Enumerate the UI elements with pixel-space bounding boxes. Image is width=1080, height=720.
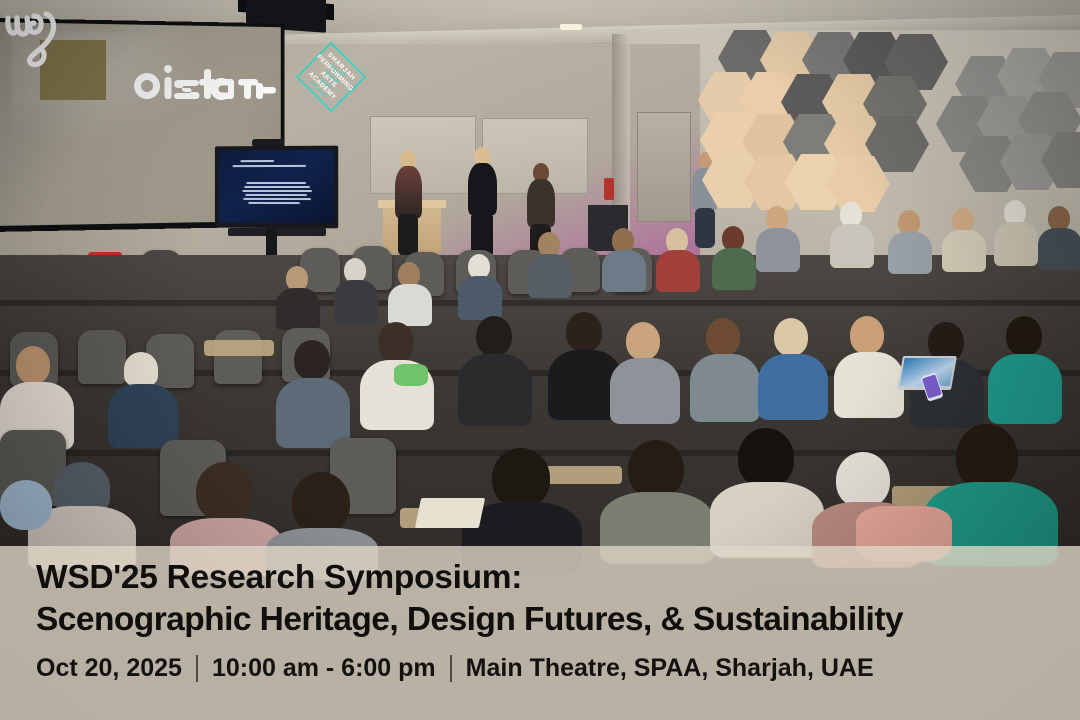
attendee-body	[610, 358, 680, 424]
whiteboard	[370, 116, 476, 194]
event-date: Oct 20, 2025	[36, 654, 182, 683]
presentation-monitor	[215, 146, 338, 229]
attendee-head	[0, 480, 52, 530]
attendee-body	[458, 354, 532, 426]
attendee-body	[988, 354, 1062, 424]
attendee-head	[836, 452, 890, 508]
event-poster: SHARJAH PERFORMING ARTS ACADEMY أكاديمية…	[0, 0, 1080, 720]
monitor-cart-shelf	[228, 228, 326, 236]
attendee-body	[756, 228, 800, 272]
attendee-body	[388, 284, 432, 326]
event-venue: Main Theatre, SPAA, Sharjah, UAE	[466, 654, 874, 683]
meta-separator	[450, 655, 452, 682]
presenter-body	[395, 166, 422, 218]
attendee-body	[888, 232, 932, 274]
attendee-head	[626, 322, 660, 360]
attendee-head	[16, 346, 50, 384]
attendee-body	[1038, 228, 1080, 270]
attendee-head	[294, 340, 330, 380]
attendee-head	[706, 318, 740, 356]
attendee-body	[830, 224, 874, 268]
event-title: WSD'25 Research Symposium: Scenographic …	[36, 557, 1066, 641]
attendee-body	[276, 288, 320, 330]
presenter-legs	[398, 214, 418, 256]
attendee-head	[774, 318, 808, 356]
attendee-legs	[695, 208, 715, 248]
attendee-headscarf	[394, 364, 428, 386]
attendee-body	[834, 352, 904, 418]
chair	[78, 330, 126, 384]
attendee-cap	[54, 462, 110, 512]
attendee-body	[276, 378, 350, 448]
attendee-head	[738, 428, 794, 488]
attendee-head	[956, 424, 1018, 490]
chair	[214, 330, 262, 384]
exit-door	[637, 112, 691, 222]
attendee-head	[628, 440, 684, 498]
fire-extinguisher	[604, 178, 614, 200]
ceiling-light	[560, 24, 582, 30]
monitor-screen	[219, 150, 334, 224]
attendee-head	[566, 312, 602, 352]
event-time: 10:00 am - 6:00 pm	[212, 654, 436, 683]
attendee-head	[1006, 316, 1042, 356]
attendee-body	[458, 276, 502, 320]
tablet-desk	[540, 466, 622, 484]
attendee-body	[690, 354, 760, 422]
attendee-body	[108, 384, 178, 448]
attendee-head	[196, 462, 254, 522]
attendee-head	[476, 316, 512, 356]
attendee-cap	[124, 352, 158, 386]
attendee-body	[528, 254, 572, 298]
attendee-head	[292, 472, 350, 534]
presenter-body	[468, 163, 497, 215]
event-title-line-1: WSD'25 Research Symposium:	[36, 559, 522, 596]
attendee-body	[942, 230, 986, 272]
wsd-logo-icon	[0, 0, 78, 70]
notepad	[415, 498, 485, 528]
attendee-head	[378, 322, 414, 362]
event-banner: WSD'25 Research Symposium: Scenographic …	[0, 546, 1080, 720]
attendee-body	[758, 354, 828, 420]
attendee-head	[492, 448, 550, 508]
event-meta: Oct 20, 2025 10:00 am - 6:00 pm Main The…	[36, 654, 874, 683]
attendee-body	[334, 280, 378, 324]
tablet-desk	[204, 340, 274, 356]
meta-separator	[196, 655, 198, 682]
attendee-body	[602, 250, 646, 292]
attendee-head	[850, 316, 884, 354]
presenter-body	[527, 179, 555, 227]
attendee-body	[656, 250, 700, 292]
event-title-line-2: Scenographic Heritage, Design Futures, &…	[36, 599, 1066, 641]
spaa-logo-icon: SHARJAH PERFORMING ARTS ACADEMY أكاديمية…	[294, 40, 368, 114]
attendee-body	[994, 222, 1038, 266]
attendee-body	[712, 248, 756, 290]
oistat-logo-icon	[130, 56, 280, 106]
